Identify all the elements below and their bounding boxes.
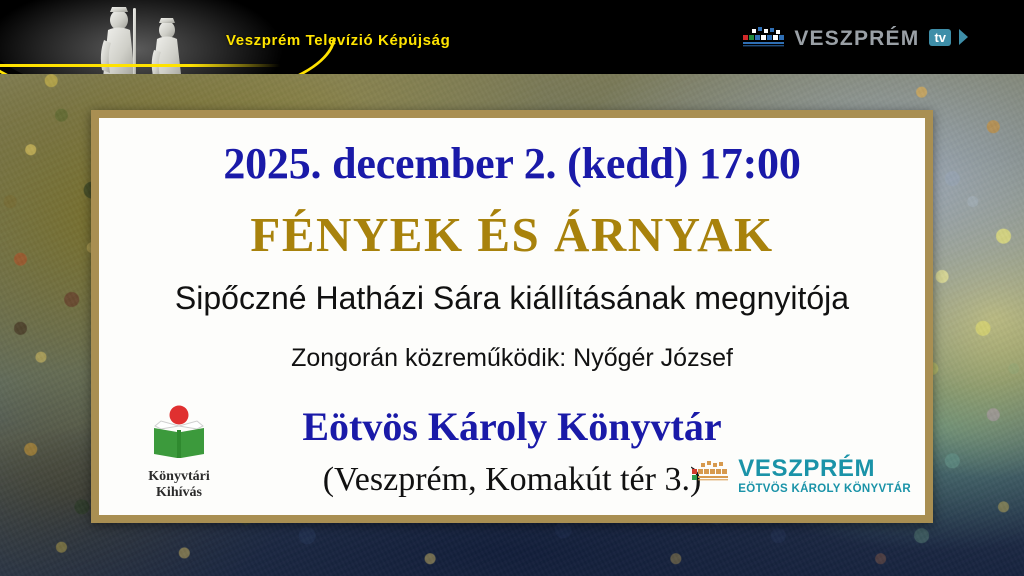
konyvtari-kihivas-line1: Könyvtári [125,469,233,485]
event-title: FÉNYEK ÉS ÁRNYAK [99,206,925,263]
ekk-subwordmark: EÖTVÖS KÁROLY KÖNYVTÁR [738,484,911,496]
open-book-icon [147,404,211,460]
tv-badge: tv [929,29,951,46]
event-credit: Zongorán közreműködik: Nyőgér József [99,344,925,373]
crown-mosaic-icon [743,27,787,49]
camera-lens-icon [959,29,968,45]
announcement-card: 2025. december 2. (kedd) 17:00 FÉNYEK ÉS… [91,110,933,523]
screen: Veszprém Televízió Képújság VESZPRÉM tv [0,0,1024,576]
veszprem-tv-wordmark: VESZPRÉM [794,28,919,49]
event-subtitle: Sipőczné Hatházi Sára kiállításának megn… [99,280,925,317]
yellow-arc-tail-icon [0,64,280,67]
veszprem-tv-logo: VESZPRÉM tv [743,27,968,49]
konyvtari-kihivas-logo: Könyvtári Kihívás [125,404,233,501]
header-bar: Veszprém Televízió Képújság VESZPRÉM tv [0,0,1024,74]
event-date: 2025. december 2. (kedd) 17:00 [99,138,925,189]
ekk-wordmark: VESZPRÉM [738,457,911,481]
konyvtari-kihivas-line2: Kihívás [125,485,233,501]
eotvos-karoly-konyvtar-logo: VESZPRÉM EÖTVÖS KÁROLY KÖNYVTÁR [692,457,911,496]
red-circle-icon [170,405,189,424]
crown-mosaic-icon [692,460,732,482]
